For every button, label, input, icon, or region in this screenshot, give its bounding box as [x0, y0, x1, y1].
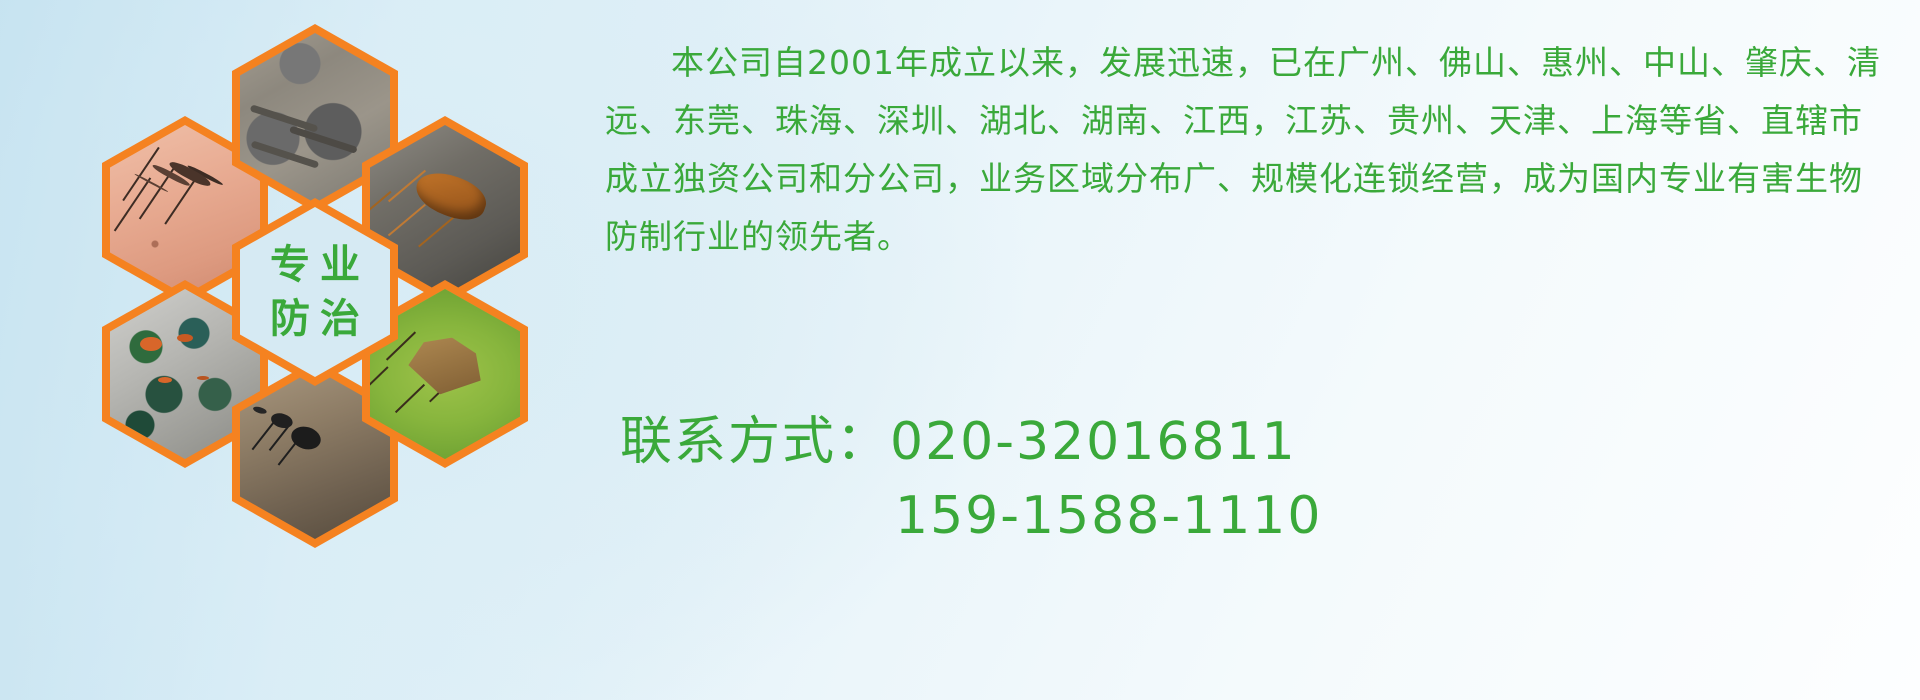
contact-phone-secondary[interactable]: 159-1588-1110 — [620, 479, 1910, 553]
contact-phone-primary[interactable]: 联系方式：020-32016811 — [620, 405, 1910, 479]
about-copy-block: 本公司自2001年成立以来，发展迅速，已在广州、佛山、惠州、中山、肇庆、清远、东… — [605, 34, 1895, 266]
about-paragraph: 本公司自2001年成立以来，发展迅速，已在广州、佛山、惠州、中山、肇庆、清远、东… — [605, 34, 1895, 266]
contact-block: 联系方式：020-32016811 159-1588-1110 — [620, 405, 1910, 553]
slogan-line-2: 防治 — [260, 292, 370, 346]
hex-photo-cluster: 专业 防治 — [80, 8, 600, 568]
pest-control-banner: 专业 防治 本公司自2001年成立以来，发展迅速，已在广州、佛山、惠州、中山、肇… — [0, 0, 1920, 700]
slogan-line-1: 专业 — [260, 238, 370, 292]
